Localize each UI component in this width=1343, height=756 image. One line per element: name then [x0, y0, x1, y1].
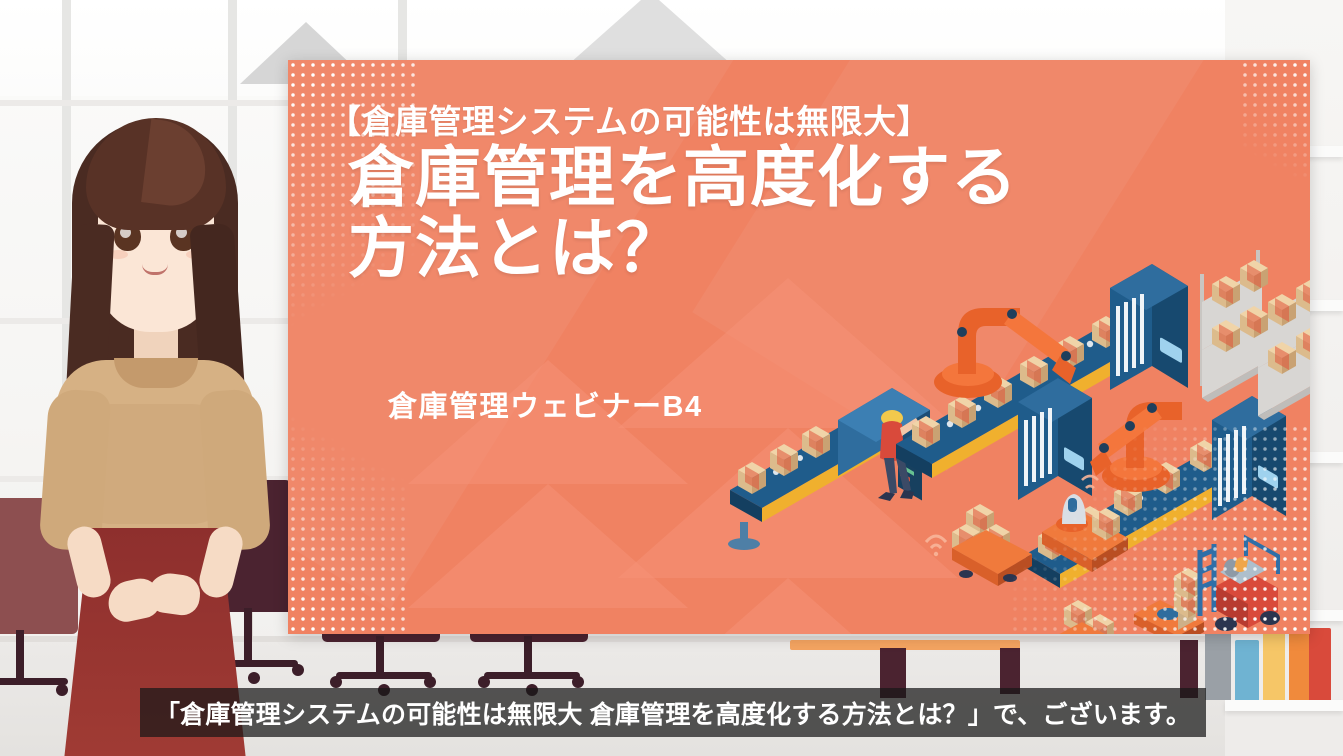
slide-title-line-2: 方法とは？: [348, 213, 1018, 284]
presenter-avatar: [38, 104, 270, 756]
halftone-dots-top-right: [1240, 60, 1310, 180]
shelf-board: [1225, 700, 1343, 711]
book: [1309, 628, 1331, 700]
chair-post: [16, 630, 24, 682]
slide-subtitle: 倉庫管理ウェビナーB4: [388, 383, 703, 425]
halftone-dots-bottom-right: [1010, 424, 1310, 634]
book: [1263, 624, 1285, 700]
chair-base: [484, 672, 580, 679]
chair-caster: [330, 676, 342, 688]
book: [1205, 632, 1231, 700]
video-frame: 【倉庫管理システムの可能性は無限大】 倉庫管理を高度化する 方法とは？ 倉庫管理…: [0, 0, 1343, 756]
chevron-shape: [408, 484, 688, 608]
chair-caster: [292, 664, 304, 676]
chair-base: [336, 672, 432, 679]
caption-text: 「倉庫管理システムの可能性は無限大 倉庫管理を高度化する方法とは？」で、ございま…: [155, 695, 1191, 731]
slide-kicker: 【倉庫管理システムの可能性は無限大】: [328, 95, 930, 143]
chair-post: [524, 636, 532, 676]
book: [1289, 632, 1309, 700]
pallet-rack: [1202, 250, 1310, 420]
chair-caster: [424, 676, 436, 688]
slide-title-line-1: 倉庫管理を高度化する: [348, 142, 1018, 213]
book: [1235, 640, 1259, 700]
chair-post: [376, 636, 384, 676]
chair-caster: [572, 676, 584, 688]
sleeve-right: [198, 388, 271, 552]
chair-caster: [478, 676, 490, 688]
presentation-slide[interactable]: 【倉庫管理システムの可能性は無限大】 倉庫管理を高度化する 方法とは？ 倉庫管理…: [288, 60, 1310, 634]
subtitle-caption-bar: 「倉庫管理システムの可能性は無限大 倉庫管理を高度化する方法とは？」で、ございま…: [140, 688, 1206, 737]
sleeve-left: [38, 388, 111, 552]
slide-title: 倉庫管理を高度化する 方法とは？: [348, 142, 1018, 285]
scanner-gate: [1110, 264, 1188, 390]
wifi-icon: [926, 536, 946, 556]
